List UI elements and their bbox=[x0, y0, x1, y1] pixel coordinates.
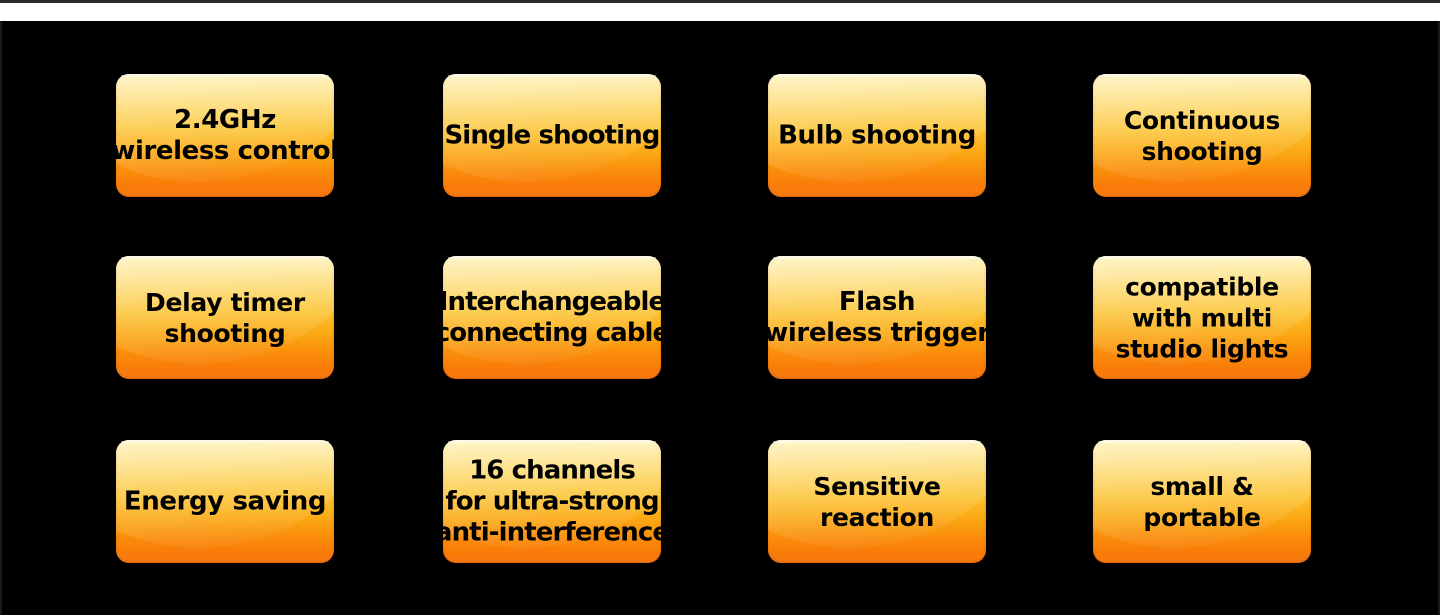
feature-button-label: Interchangeable connecting cable bbox=[435, 287, 670, 349]
feature-button-label: compatible with multi studio lights bbox=[1116, 271, 1289, 364]
feature-cell-sixteen-channels: 16 channels for ultra-strong anti-interf… bbox=[443, 440, 661, 563]
feature-button-label: Continuous shooting bbox=[1124, 105, 1280, 167]
feature-cell-sensitive-reaction: Sensitive reaction bbox=[768, 440, 986, 563]
feature-button-flash-wireless-trigger[interactable]: Flash wireless trigger bbox=[768, 256, 986, 379]
top-rim-highlight bbox=[1098, 441, 1306, 443]
feature-cell-wireless-control: 2.4GHz wireless control bbox=[116, 74, 334, 197]
feature-button-energy-saving[interactable]: Energy saving bbox=[116, 440, 334, 563]
feature-button-delay-timer-shooting[interactable]: Delay timer shooting bbox=[116, 256, 334, 379]
top-rim-highlight bbox=[121, 441, 329, 443]
top-rim-highlight bbox=[1098, 75, 1306, 77]
feature-cell-delay-timer-shooting: Delay timer shooting bbox=[116, 256, 334, 379]
feature-button-interchangeable-cable[interactable]: Interchangeable connecting cable bbox=[443, 256, 661, 379]
feature-canvas: 2.4GHz wireless control Single shooting … bbox=[0, 21, 1440, 615]
feature-button-label: Sensitive reaction bbox=[813, 471, 940, 533]
feature-button-multi-studio-lights[interactable]: compatible with multi studio lights bbox=[1093, 256, 1311, 379]
feature-cell-single-shooting: Single shooting bbox=[443, 74, 661, 197]
feature-cell-continuous-shooting: Continuous shooting bbox=[1093, 74, 1311, 197]
feature-button-label: Delay timer shooting bbox=[145, 287, 305, 349]
feature-button-label: Bulb shooting bbox=[778, 120, 976, 151]
feature-button-sixteen-channels[interactable]: 16 channels for ultra-strong anti-interf… bbox=[443, 440, 661, 563]
top-rim-highlight bbox=[121, 257, 329, 259]
feature-button-small-portable[interactable]: small & portable bbox=[1093, 440, 1311, 563]
top-rim-highlight bbox=[121, 75, 329, 77]
feature-button-label: Flash wireless trigger bbox=[764, 287, 989, 349]
feature-cell-multi-studio-lights: compatible with multi studio lights bbox=[1093, 256, 1311, 379]
feature-cell-flash-wireless-trigger: Flash wireless trigger bbox=[768, 256, 986, 379]
feature-grid: 2.4GHz wireless control Single shooting … bbox=[0, 21, 1440, 615]
top-rim-highlight bbox=[448, 257, 656, 259]
feature-cell-interchangeable-cable: Interchangeable connecting cable bbox=[443, 256, 661, 379]
feature-button-label: 16 channels for ultra-strong anti-interf… bbox=[435, 455, 669, 548]
top-rim-highlight bbox=[1098, 257, 1306, 259]
feature-cell-bulb-shooting: Bulb shooting bbox=[768, 74, 986, 197]
top-rim-highlight bbox=[773, 441, 981, 443]
feature-button-label: small & portable bbox=[1143, 471, 1260, 533]
top-rim-highlight bbox=[773, 75, 981, 77]
feature-button-label: 2.4GHz wireless control bbox=[111, 105, 338, 167]
feature-button-label: Energy saving bbox=[124, 486, 326, 517]
feature-button-bulb-shooting[interactable]: Bulb shooting bbox=[768, 74, 986, 197]
left-edge-border bbox=[0, 21, 2, 615]
feature-cell-energy-saving: Energy saving bbox=[116, 440, 334, 563]
white-header-band bbox=[0, 3, 1440, 21]
feature-button-single-shooting[interactable]: Single shooting bbox=[443, 74, 661, 197]
feature-button-sensitive-reaction[interactable]: Sensitive reaction bbox=[768, 440, 986, 563]
page-root: 2.4GHz wireless control Single shooting … bbox=[0, 0, 1440, 615]
top-rim-highlight bbox=[773, 257, 981, 259]
top-rim-highlight bbox=[448, 75, 656, 77]
top-rim-highlight bbox=[448, 441, 656, 443]
feature-button-wireless-control[interactable]: 2.4GHz wireless control bbox=[116, 74, 334, 197]
feature-button-continuous-shooting[interactable]: Continuous shooting bbox=[1093, 74, 1311, 197]
feature-cell-small-portable: small & portable bbox=[1093, 440, 1311, 563]
feature-button-label: Single shooting bbox=[444, 120, 659, 151]
